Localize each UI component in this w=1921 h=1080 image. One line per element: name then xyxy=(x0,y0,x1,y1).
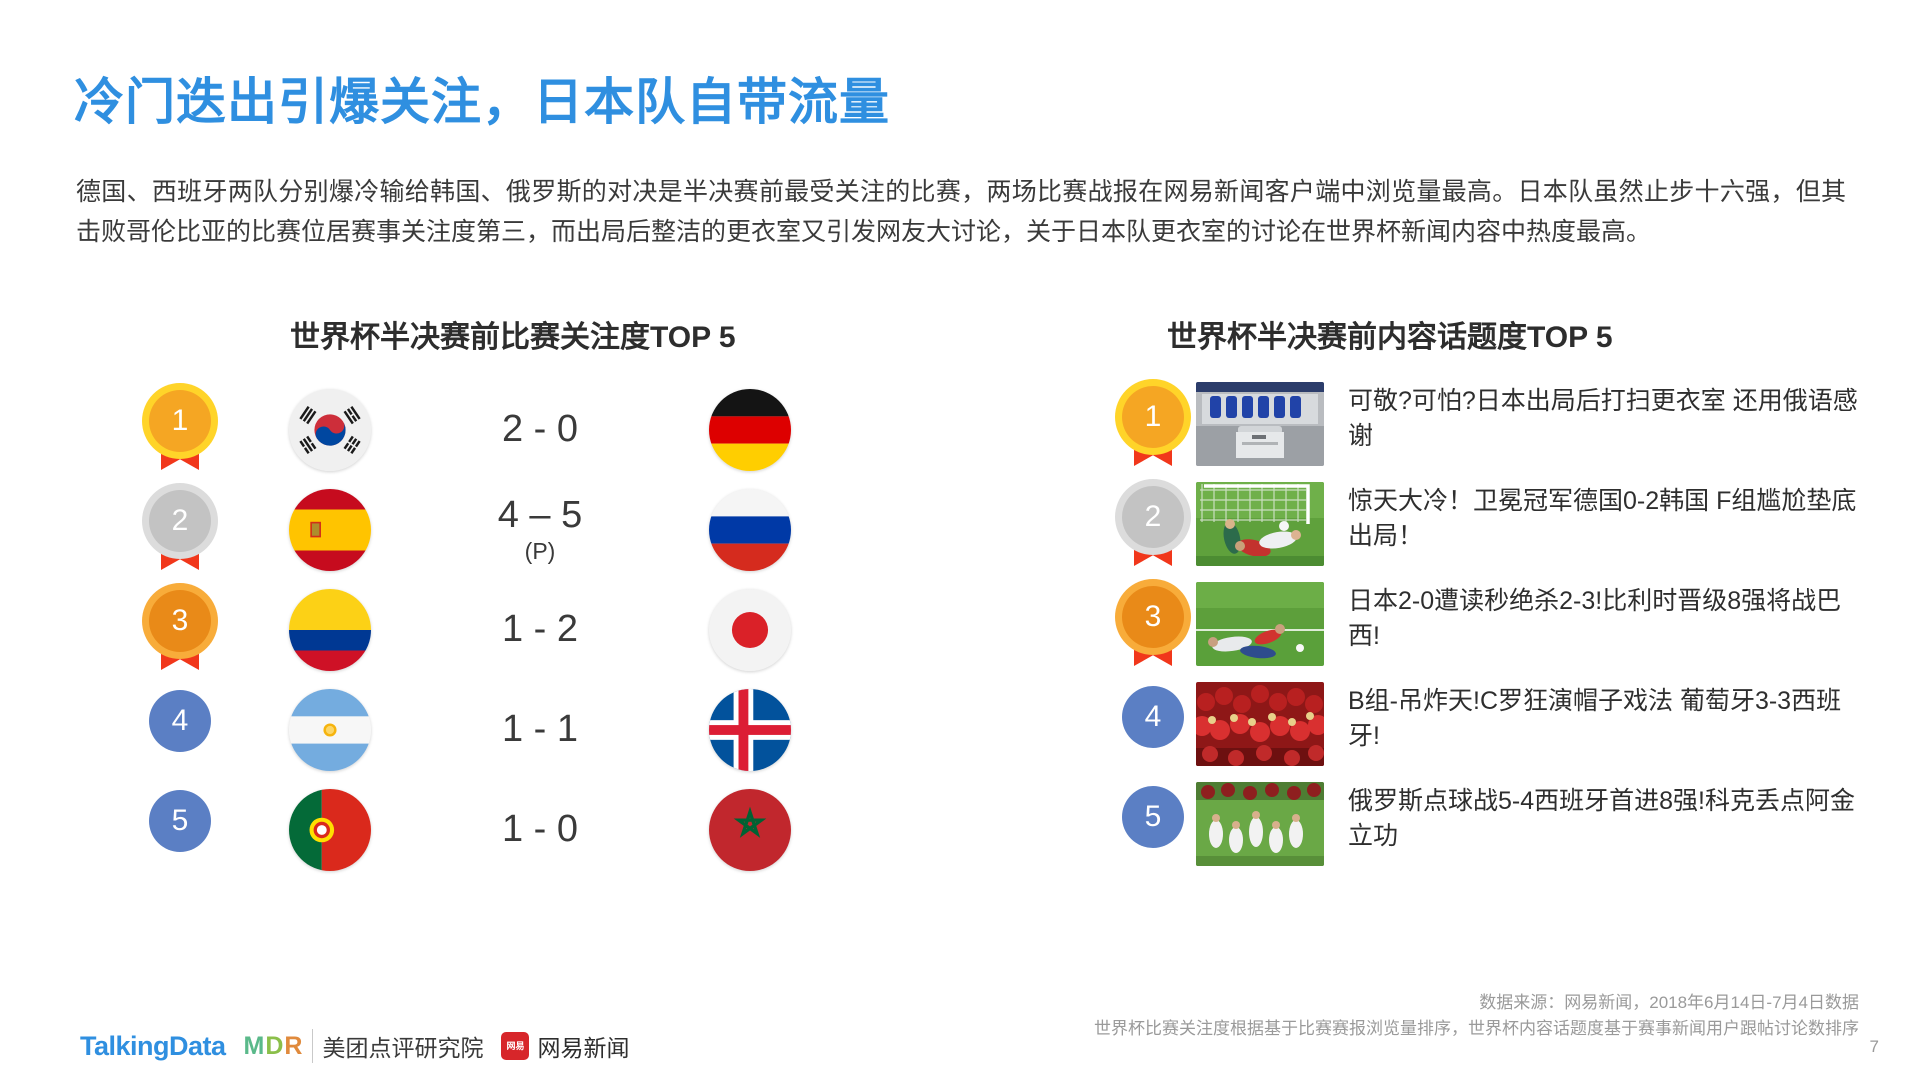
rank-cell: 5 xyxy=(1110,782,1196,866)
source-line-1: 数据来源：网易新闻，2018年6月14日-7月4日数据 xyxy=(1094,990,1859,1016)
flag-cell-left xyxy=(240,689,420,771)
rank-badge-1: 1 xyxy=(1122,386,1184,466)
flag-japan-icon xyxy=(709,589,791,671)
topic-headline[interactable]: B组-吊炸天!C罗狂演帽子戏法 葡萄牙3-3西班牙! xyxy=(1324,682,1870,754)
rank-badge-1: 1 xyxy=(149,390,211,470)
list-item[interactable]: 5 xyxy=(1110,782,1870,882)
flag-portugal-icon xyxy=(289,789,371,871)
rank-badge-2: 2 xyxy=(149,490,211,570)
page-number: 7 xyxy=(1870,1037,1879,1057)
table-row: 5 1 - 0 xyxy=(120,780,920,880)
table-row: 3 1 - 2 xyxy=(120,580,920,680)
rank-badge-3: 3 xyxy=(149,590,211,670)
rank-cell: 3 xyxy=(1110,582,1196,666)
logo-mdr: MDR 美团点评研究院 xyxy=(244,1029,484,1063)
thumbnail-celebration[interactable] xyxy=(1196,782,1324,866)
rank-cell: 3 xyxy=(120,590,240,670)
rank-badge-5: 5 xyxy=(1122,786,1184,866)
topic-headline[interactable]: 日本2-0遭读秒绝杀2-3!比利时晋级8强将战巴西! xyxy=(1324,582,1870,654)
match-ranking-list: 1 xyxy=(120,380,920,880)
rank-number: 4 xyxy=(149,690,211,752)
thumbnail-goal-dive[interactable] xyxy=(1196,482,1324,566)
logo-netease-text: 网易新闻 xyxy=(537,1029,629,1063)
thumbnail-red-crowd[interactable] xyxy=(1196,682,1324,766)
thumbnail-players-pitch[interactable] xyxy=(1196,582,1324,666)
rank-cell: 5 xyxy=(120,790,240,870)
flag-cell-left xyxy=(240,389,420,471)
flag-argentina-icon xyxy=(289,689,371,771)
flag-morocco-icon xyxy=(709,789,791,871)
score-text: 1 - 2 xyxy=(502,608,578,650)
rank-cell: 1 xyxy=(120,390,240,470)
score-cell: 1 - 2 xyxy=(420,609,660,651)
rank-badge-2: 2 xyxy=(1122,486,1184,566)
score-cell: 4 – 5 (P) xyxy=(420,495,660,564)
footer-logos: TalkingData MDR 美团点评研究院 网易 网易新闻 xyxy=(80,1029,629,1063)
flag-cell-right xyxy=(660,689,840,771)
flag-cell-right xyxy=(660,489,840,571)
penalty-note: (P) xyxy=(420,539,660,564)
rank-number: 2 xyxy=(1122,486,1184,548)
flag-cell-left xyxy=(240,489,420,571)
slide-root: 冷门迭出引爆关注，日本队自带流量 德国、西班牙两队分别爆冷输给韩国、俄罗斯的对决… xyxy=(0,0,1921,1080)
topic-headline[interactable]: 惊天大冷！卫冕冠军德国0-2韩国 F组尴尬垫底出局！ xyxy=(1324,482,1870,554)
rank-number: 1 xyxy=(149,390,211,452)
rank-number: 2 xyxy=(149,490,211,552)
rank-cell: 2 xyxy=(120,490,240,570)
flag-colombia-icon xyxy=(289,589,371,671)
rank-badge-4: 4 xyxy=(1122,686,1184,766)
rank-cell: 4 xyxy=(1110,682,1196,766)
list-item[interactable]: 2 惊天大冷！卫冕冠 xyxy=(1110,482,1870,582)
flag-spain-icon xyxy=(289,489,371,571)
flag-cell-right xyxy=(660,589,840,671)
flag-russia-icon xyxy=(709,489,791,571)
rank-number: 4 xyxy=(1122,686,1184,748)
source-note: 数据来源：网易新闻，2018年6月14日-7月4日数据 世界杯比赛关注度根据基于… xyxy=(1094,990,1859,1042)
topic-headline[interactable]: 可敬?可怕?日本出局后打扫更衣室 还用俄语感谢 xyxy=(1324,382,1870,454)
rank-badge-3: 3 xyxy=(1122,586,1184,666)
rank-cell: 2 xyxy=(1110,482,1196,566)
logo-mdr-letter-m: M xyxy=(244,1032,266,1060)
table-row: 4 1 - 1 xyxy=(120,680,920,780)
list-item[interactable]: 4 xyxy=(1110,682,1870,782)
source-line-2: 世界杯比赛关注度根据基于比赛赛报浏览量排序，世界杯内容话题度基于赛事新闻用户跟帖… xyxy=(1094,1016,1859,1042)
flag-cell-right xyxy=(660,389,840,471)
score-cell: 1 - 1 xyxy=(420,709,660,751)
logo-mdr-mark: MDR xyxy=(244,1032,304,1061)
topic-ranking-list: 1 xyxy=(1110,382,1870,882)
rank-cell: 1 xyxy=(1110,382,1196,466)
flag-cell-right xyxy=(660,789,840,871)
score-text: 2 - 0 xyxy=(502,408,578,450)
logo-talkingdata: TalkingData xyxy=(80,1031,226,1062)
flag-south-korea-icon xyxy=(289,389,371,471)
rank-number: 5 xyxy=(149,790,211,852)
score-cell: 1 - 0 xyxy=(420,809,660,851)
logo-mdr-letter-r: R xyxy=(284,1032,303,1060)
rank-number: 3 xyxy=(1122,586,1184,648)
logo-mdr-text: 美团点评研究院 xyxy=(312,1029,483,1063)
rank-cell: 4 xyxy=(120,690,240,770)
list-item[interactable]: 1 xyxy=(1110,382,1870,482)
thumbnail-locker-room[interactable] xyxy=(1196,382,1324,466)
table-row: 2 4 – 5 (P) xyxy=(120,480,920,580)
score-text: 1 - 1 xyxy=(502,708,578,750)
list-item[interactable]: 3 日本2-0遭读秒绝杀2-3!比利时晋级8强将战巴西! xyxy=(1110,582,1870,682)
rank-number: 1 xyxy=(1122,386,1184,448)
rank-number: 5 xyxy=(1122,786,1184,848)
topic-headline[interactable]: 俄罗斯点球战5-4西班牙首进8强!科克丢点阿金立功 xyxy=(1324,782,1870,854)
rank-badge-5: 5 xyxy=(149,790,211,870)
score-text: 4 – 5 xyxy=(498,494,583,536)
netease-mark-icon: 网易 xyxy=(501,1032,529,1060)
flag-cell-left xyxy=(240,789,420,871)
right-section-heading: 世界杯半决赛前内容话题度TOP 5 xyxy=(1167,312,1613,356)
intro-paragraph: 德国、西班牙两队分别爆冷输给韩国、俄罗斯的对决是半决赛前最受关注的比赛，两场比赛… xyxy=(76,172,1846,252)
page-title: 冷门迭出引爆关注，日本队自带流量 xyxy=(74,62,890,134)
score-cell: 2 - 0 xyxy=(420,409,660,451)
flag-cell-left xyxy=(240,589,420,671)
table-row: 1 xyxy=(120,380,920,480)
flag-iceland-icon xyxy=(709,689,791,771)
rank-number: 3 xyxy=(149,590,211,652)
score-text: 1 - 0 xyxy=(502,808,578,850)
logo-mdr-letter-d: D xyxy=(265,1032,284,1060)
rank-badge-4: 4 xyxy=(149,690,211,770)
flag-germany-icon xyxy=(709,389,791,471)
left-section-heading: 世界杯半决赛前比赛关注度TOP 5 xyxy=(290,312,736,356)
logo-netease: 网易 网易新闻 xyxy=(501,1029,629,1063)
